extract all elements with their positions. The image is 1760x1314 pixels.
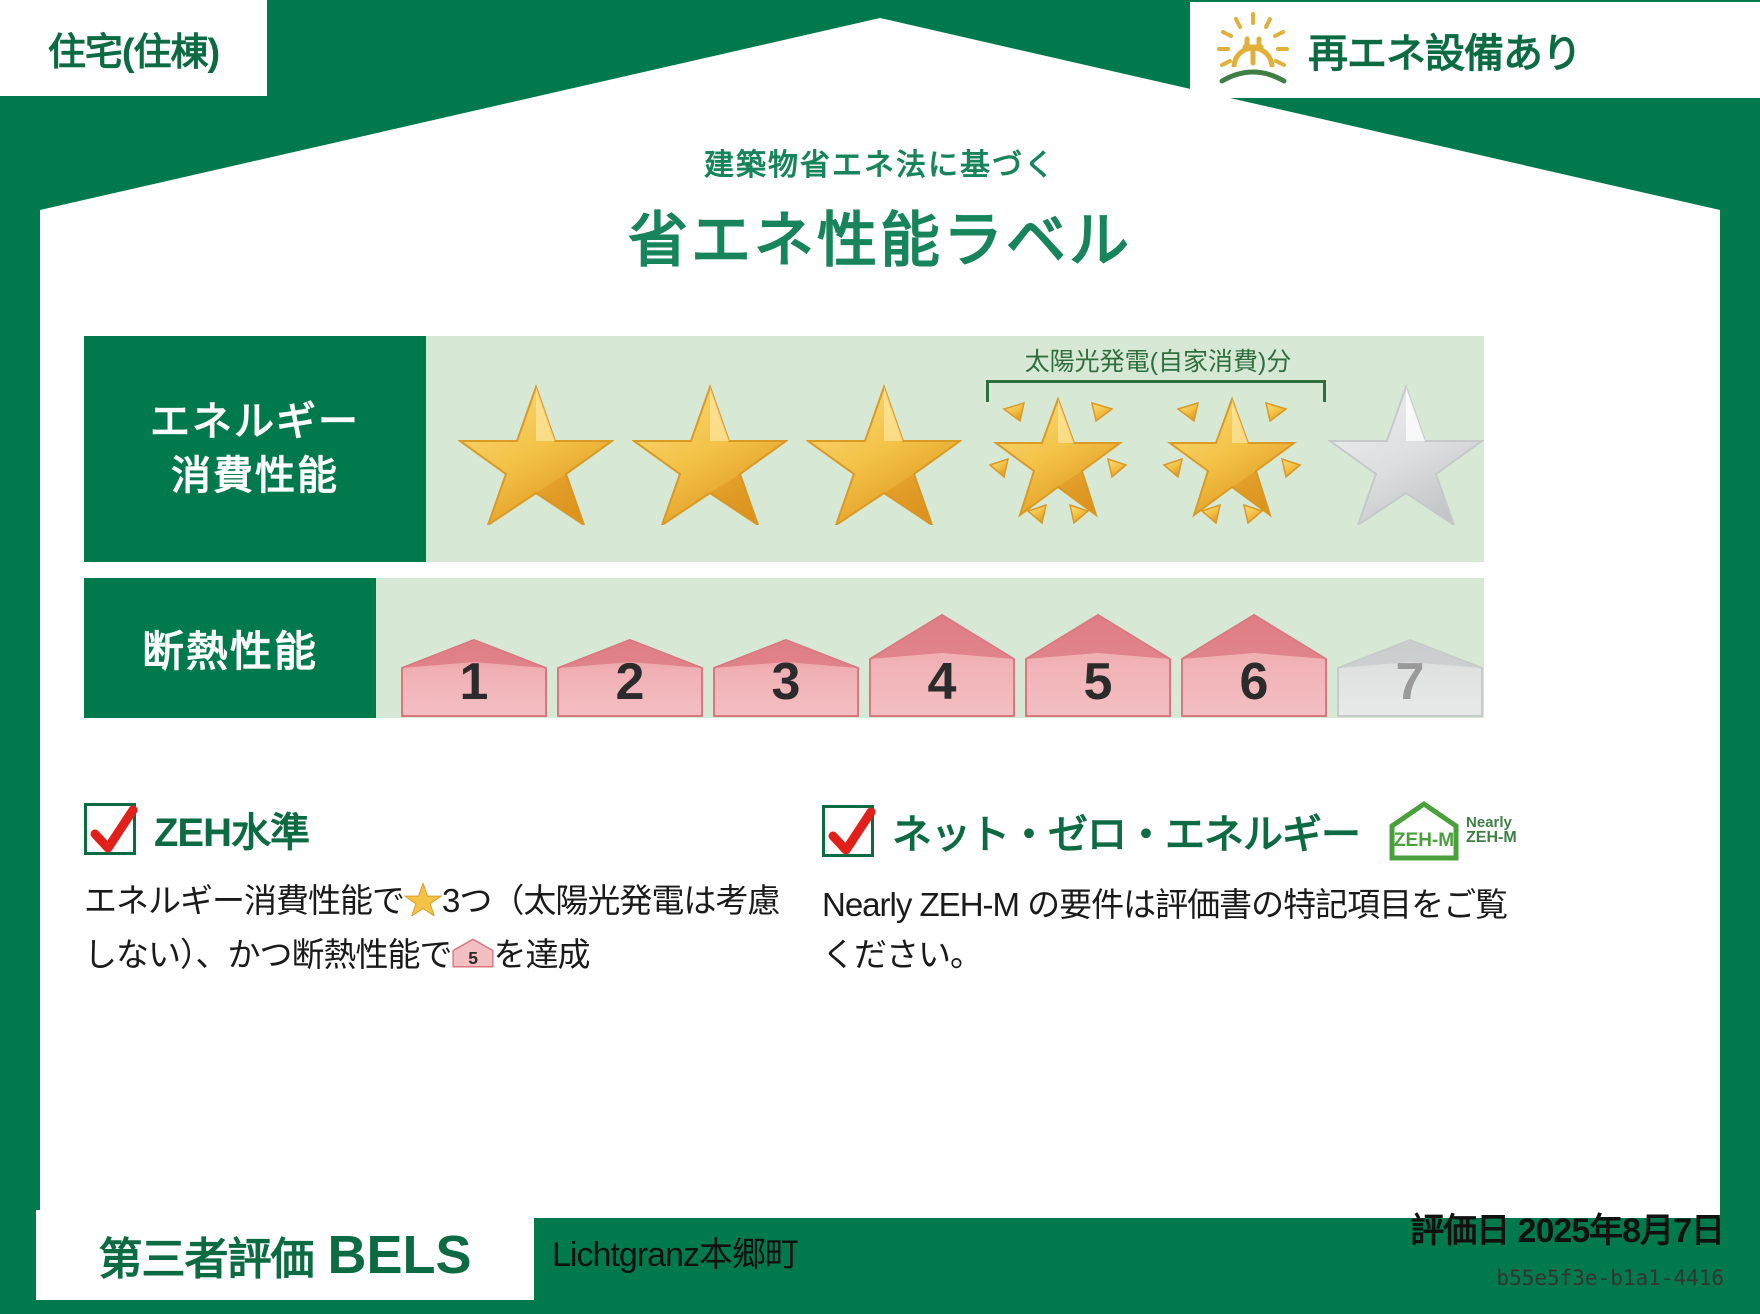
zeh-m-logo-name: ZEH-M xyxy=(1466,830,1517,847)
star-3 xyxy=(806,373,962,525)
energy-performance-row: エネルギー 消費性能 太陽光発電(自家消費)分 xyxy=(84,336,1484,562)
insulation-grade-6: 6 xyxy=(1180,613,1328,718)
insulation-grade-3: 3 xyxy=(712,638,860,718)
insulation-performance-label: 断熱性能 xyxy=(84,578,376,718)
zeh-m-logo: ZEH-M Nearly ZEH-M xyxy=(1388,800,1517,862)
inline-star-icon xyxy=(404,880,442,930)
zeh-body-part1: エネルギー消費性能で xyxy=(84,882,404,919)
insulation-grade-1: 1 xyxy=(400,638,548,718)
insulation-grade-2: 2 xyxy=(556,638,704,718)
svg-text:ZEH-M: ZEH-M xyxy=(1394,830,1454,851)
label-main-title: 省エネ性能ラベル xyxy=(0,192,1760,279)
insulation-label-text: 断熱性能 xyxy=(142,618,318,679)
star-4-solar xyxy=(980,373,1136,525)
label-subtitle: 建築物省エネ法に基づく xyxy=(0,140,1760,184)
renewable-equipment-badge: 再エネ設備あり xyxy=(1190,2,1760,98)
nze-criteria-title: ネット・ゼロ・エネルギー xyxy=(892,802,1360,860)
energy-label-line1: エネルギー xyxy=(150,395,360,449)
insulation-grade-7-value: 7 xyxy=(1336,652,1484,712)
zeh-checkbox[interactable] xyxy=(84,803,136,855)
zeh-m-house-icon: ZEH-M xyxy=(1388,800,1460,862)
bels-third-party-badge: 第三者評価 BELS xyxy=(36,1210,534,1300)
insulation-grade-5: 5 xyxy=(1024,613,1172,718)
insulation-performance-row: 断熱性能 1 xyxy=(84,578,1484,718)
star-2 xyxy=(632,373,788,525)
zeh-m-logo-nearly: Nearly xyxy=(1466,815,1517,831)
zeh-criteria-body: エネルギー消費性能で 3つ（太陽光発電は考慮しない）、かつ断熱性能で 5 を達成 xyxy=(84,876,784,985)
insulation-grade-4-value: 4 xyxy=(868,652,1016,712)
zeh-criteria-column: ZEH水準 エネルギー消費性能で 3つ（太陽光発電は考慮しない）、かつ断熱性能で… xyxy=(84,800,784,985)
label-title-block: 建築物省エネ法に基づく 省エネ性能ラベル xyxy=(0,140,1760,279)
criteria-columns: ZEH水準 エネルギー消費性能で 3つ（太陽光発電は考慮しない）、かつ断熱性能で… xyxy=(84,800,1684,985)
insulation-grade-4: 4 xyxy=(868,613,1016,718)
nze-criteria-body: Nearly ZEH-M の要件は評価書の特記項目をご覧ください。 xyxy=(822,880,1522,979)
insulation-grade-1-value: 1 xyxy=(400,652,548,712)
insulation-grade-2-value: 2 xyxy=(556,652,704,712)
insulation-grade-3-value: 3 xyxy=(712,652,860,712)
energy-rating-area: 太陽光発電(自家消費)分 xyxy=(426,336,1484,562)
renewable-badge-label: 再エネ設備あり xyxy=(1308,21,1581,79)
check-icon xyxy=(85,800,141,862)
energy-performance-label: エネルギー 消費性能 xyxy=(84,336,426,562)
evaluation-id: b55e5f3e-b1a1-4416 xyxy=(1496,1266,1724,1290)
star-6-empty xyxy=(1328,373,1484,525)
zeh-body-part3: を達成 xyxy=(494,936,590,973)
insulation-rating-area: 1 2 3 xyxy=(376,578,1484,718)
nze-checkbox[interactable] xyxy=(822,805,874,857)
insulation-grade-5-value: 5 xyxy=(1024,652,1172,712)
dwelling-type-badge: 住宅(住棟) xyxy=(0,0,267,96)
svg-text:5: 5 xyxy=(468,948,478,968)
star-5-solar xyxy=(1154,373,1310,525)
bels-jp-label: 第三者評価 xyxy=(98,1223,313,1287)
insulation-grade-6-value: 6 xyxy=(1180,652,1328,712)
evaluation-date: 評価日 2025年8月7日 xyxy=(1410,1203,1724,1252)
nze-criteria-column: ネット・ゼロ・エネルギー ZEH-M Nearly ZEH-M Nearly Z… xyxy=(822,800,1522,985)
zeh-criteria-title: ZEH水準 xyxy=(154,800,309,858)
check-icon xyxy=(823,802,879,864)
building-name: Lichtgranz本郷町 xyxy=(552,1227,798,1276)
star-1 xyxy=(458,373,614,525)
nze-criteria-header: ネット・ゼロ・エネルギー ZEH-M Nearly ZEH-M xyxy=(822,800,1522,862)
inline-house-grade-icon: 5 xyxy=(452,934,494,986)
bels-energy-label: 住宅(住棟) 再エネ設備あり xyxy=(0,0,1760,1314)
bels-en-label: BELS xyxy=(327,1224,471,1286)
dwelling-type-label: 住宅(住棟) xyxy=(48,21,219,76)
solar-plug-icon xyxy=(1214,11,1292,90)
zeh-criteria-header: ZEH水準 xyxy=(84,800,784,858)
insulation-grade-list: 1 2 3 xyxy=(376,578,1484,718)
energy-label-line2: 消費性能 xyxy=(171,449,339,503)
insulation-grade-7: 7 xyxy=(1336,638,1484,718)
